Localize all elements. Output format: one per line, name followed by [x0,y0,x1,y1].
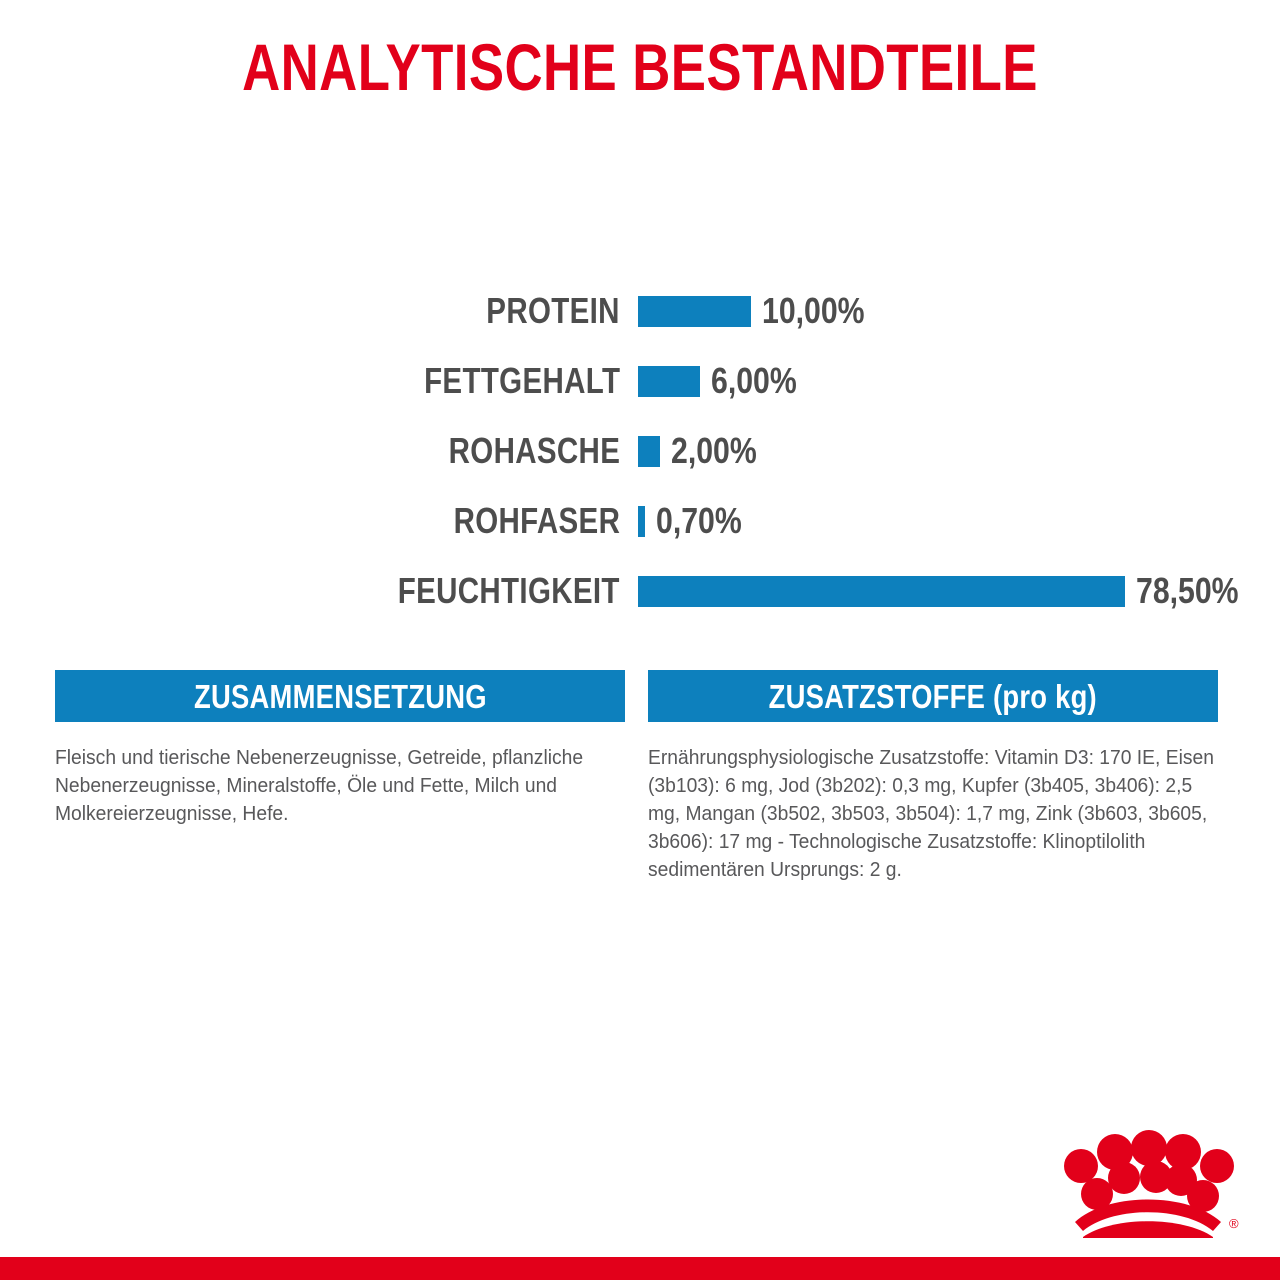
bar-label-protein: PROTEIN [486,293,620,329]
bar-label-feuchtigkeit: FEUCHTIGKEIT [398,573,620,609]
bar-fettgehalt [638,366,700,397]
bar-label-rohasche: ROHASCHE [448,433,620,469]
page-title: ANALYTISCHE BESTANDTEILE [128,34,1152,100]
bar-group-rohfaser: 0,70% [638,503,758,539]
bar-value-feuchtigkeit: 78,50% [1136,573,1239,609]
section-zusammensetzung: ZUSAMMENSETZUNG Fleisch und tierische Ne… [55,670,625,884]
analytical-constituents-chart: PROTEIN 10,00% FETTGEHALT 6,00% ROHASCHE… [0,276,1280,626]
chart-row: FEUCHTIGKEIT 78,50% [0,556,1280,626]
chart-row: ROHASCHE 2,00% [0,416,1280,486]
bottom-accent-bar [0,1257,1280,1280]
section-body-zusammensetzung: Fleisch und tierische Nebenerzeugnisse, … [55,744,625,828]
chart-row: ROHFASER 0,70% [0,486,1280,556]
section-header-label: ZUSAMMENSETZUNG [194,680,487,713]
section-header-zusatzstoffe: ZUSATZSTOFFE (pro kg) [648,670,1218,722]
bar-label-fettgehalt: FETTGEHALT [424,363,620,399]
bar-group-protein: 10,00% [638,293,884,329]
section-zusatzstoffe: ZUSATZSTOFFE (pro kg) Ernährungsphysiolo… [648,670,1218,884]
bar-group-fettgehalt: 6,00% [638,363,813,399]
bar-value-rohfaser: 0,70% [656,503,742,539]
royal-canin-crown-icon: ® [1053,1130,1243,1238]
bar-group-rohasche: 2,00% [638,433,773,469]
section-body-zusatzstoffe: Ernährungsphysiologische Zusatzstoffe: V… [648,744,1218,884]
bar-value-rohasche: 2,00% [671,433,757,469]
section-header-zusammensetzung: ZUSAMMENSETZUNG [55,670,625,722]
bar-rohfaser [638,506,645,537]
info-sections: ZUSAMMENSETZUNG Fleisch und tierische Ne… [55,670,1225,884]
bar-label-rohfaser: ROHFASER [453,503,620,539]
bar-rohasche [638,436,660,467]
section-header-label: ZUSATZSTOFFE (pro kg) [769,680,1097,713]
chart-row: PROTEIN 10,00% [0,276,1280,346]
registered-trademark-mark: ® [1229,1216,1239,1231]
bar-value-fettgehalt: 6,00% [711,363,797,399]
bar-feuchtigkeit [638,576,1125,607]
bar-value-protein: 10,00% [762,293,865,329]
bar-protein [638,296,751,327]
chart-row: FETTGEHALT 6,00% [0,346,1280,416]
bar-group-feuchtigkeit: 78,50% [638,573,1258,609]
